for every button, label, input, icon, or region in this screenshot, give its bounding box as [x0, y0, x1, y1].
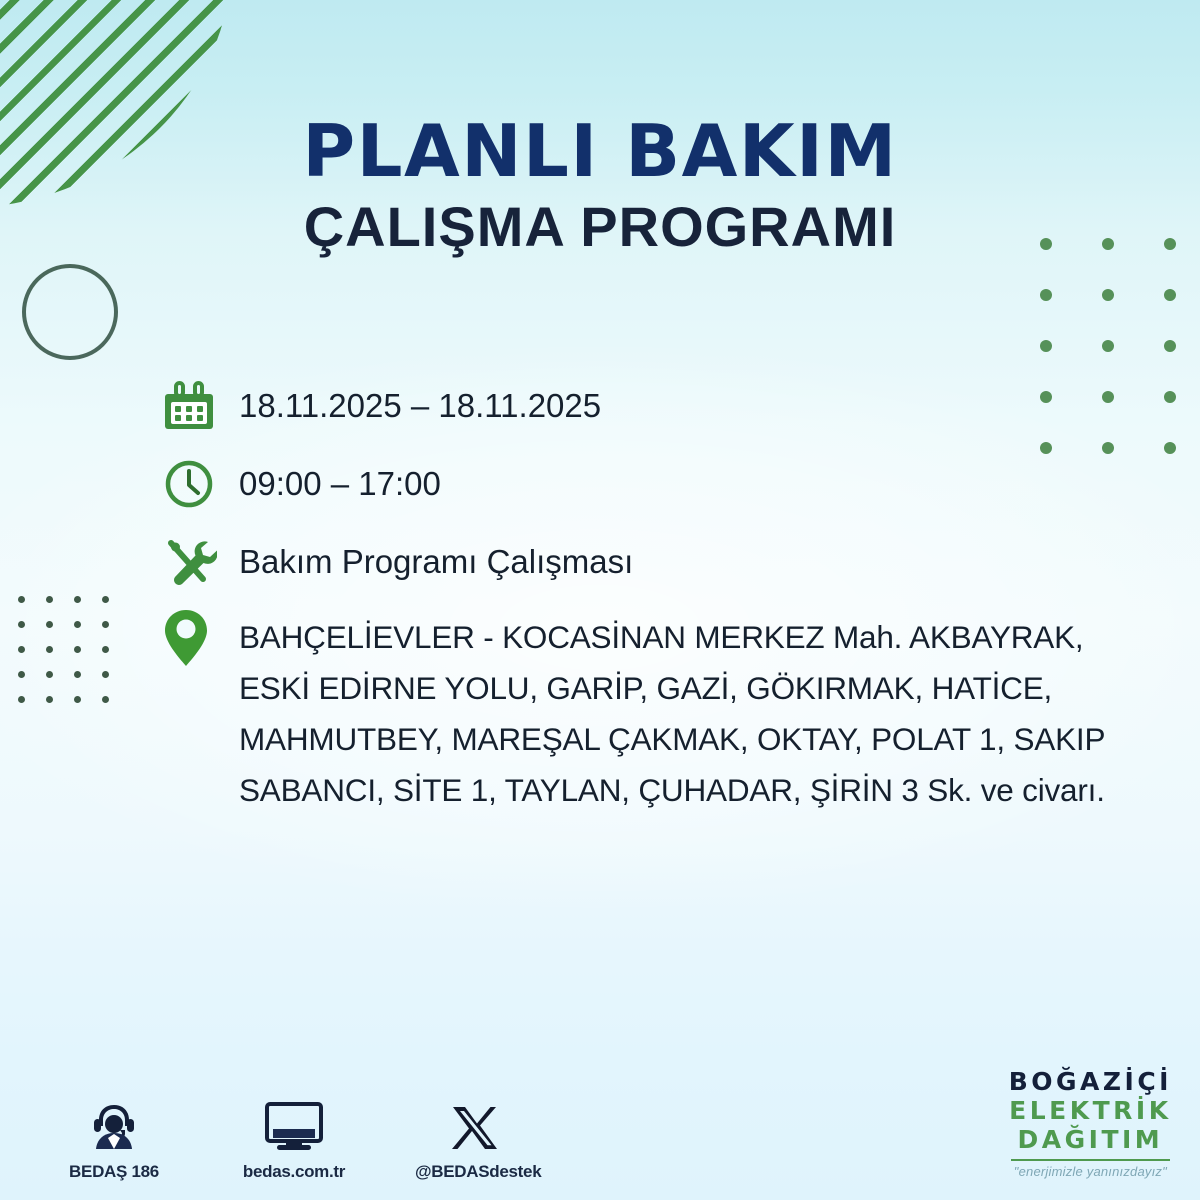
brand-divider [1011, 1159, 1170, 1161]
contact-website[interactable]: bedas.com.tr [235, 1097, 353, 1182]
dot [74, 671, 81, 678]
dot [74, 696, 81, 703]
dot [102, 671, 109, 678]
time-range-text: 09:00 – 17:00 [239, 456, 441, 512]
brand-logo: BOĞAZİÇİ ELEKTRİK DAĞITIM "enerjimizle y… [1009, 1069, 1172, 1178]
footer-contacts: BEDAŞ 186 bedas.com.tr @BEDASdestek [55, 1097, 533, 1182]
detail-row-work-type: Bakım Programı Çalışması [163, 534, 1153, 590]
calendar-icon [163, 378, 239, 434]
brand-tagline: "enerjimizle yanınızdayız" [1009, 1165, 1172, 1178]
poster-heading: PLANLI BAKIM ÇALIŞMA PROGRAMI [0, 112, 1200, 258]
dot [46, 696, 53, 703]
brand-line-elektrik: ELEKTRİK [1009, 1098, 1172, 1123]
location-pin-icon [163, 612, 239, 664]
date-range-text: 18.11.2025 – 18.11.2025 [239, 378, 601, 434]
dot [18, 671, 25, 678]
dot [18, 696, 25, 703]
work-type-text: Bakım Programı Çalışması [239, 534, 633, 590]
dot [1164, 289, 1176, 301]
dot [46, 596, 53, 603]
poster-canvas: PLANLI BAKIM ÇALIŞMA PROGRAMI [0, 0, 1200, 1200]
location-text: BAHÇELİEVLER - KOCASİNAN MERKEZ Mah. AKB… [239, 612, 1153, 816]
contact-website-label: bedas.com.tr [235, 1162, 353, 1182]
detail-row-location: BAHÇELİEVLER - KOCASİNAN MERKEZ Mah. AKB… [163, 612, 1153, 816]
dot [102, 621, 109, 628]
contact-x-account[interactable]: @BEDASdestek [415, 1097, 533, 1182]
dot [1164, 340, 1176, 352]
page-title: PLANLI BAKIM [0, 112, 1200, 190]
headset-agent-icon [55, 1097, 173, 1153]
dot [18, 646, 25, 653]
detail-row-time: 09:00 – 17:00 [163, 456, 1153, 512]
dot-grid-left-decoration [18, 596, 130, 721]
page-subtitle: ÇALIŞMA PROGRAMI [0, 196, 1200, 258]
dot [102, 646, 109, 653]
outage-details: 18.11.2025 – 18.11.2025 09:00 – 17:00 [163, 378, 1153, 816]
tools-icon [163, 534, 239, 590]
brand-line-bogazici: BOĞAZİÇİ [1009, 1069, 1172, 1094]
circle-outline-decoration [22, 264, 118, 360]
dot [1164, 391, 1176, 403]
dot [18, 621, 25, 628]
dot [102, 596, 109, 603]
monitor-icon [235, 1097, 353, 1153]
dot [1102, 289, 1114, 301]
dot [74, 646, 81, 653]
dot [74, 621, 81, 628]
dot [46, 621, 53, 628]
dot [1164, 442, 1176, 454]
dot [46, 671, 53, 678]
dot [46, 646, 53, 653]
dot [1102, 340, 1114, 352]
dot [1040, 289, 1052, 301]
contact-phone[interactable]: BEDAŞ 186 [55, 1097, 173, 1182]
x-logo-icon [415, 1097, 533, 1153]
clock-icon [163, 456, 239, 512]
detail-row-date: 18.11.2025 – 18.11.2025 [163, 378, 1153, 434]
brand-line-dagitim: DAĞITIM [1009, 1127, 1172, 1152]
dot [1040, 340, 1052, 352]
dot [18, 596, 25, 603]
dot [74, 596, 81, 603]
contact-x-label: @BEDASdestek [415, 1162, 533, 1182]
dot [102, 696, 109, 703]
contact-phone-label: BEDAŞ 186 [55, 1162, 173, 1182]
